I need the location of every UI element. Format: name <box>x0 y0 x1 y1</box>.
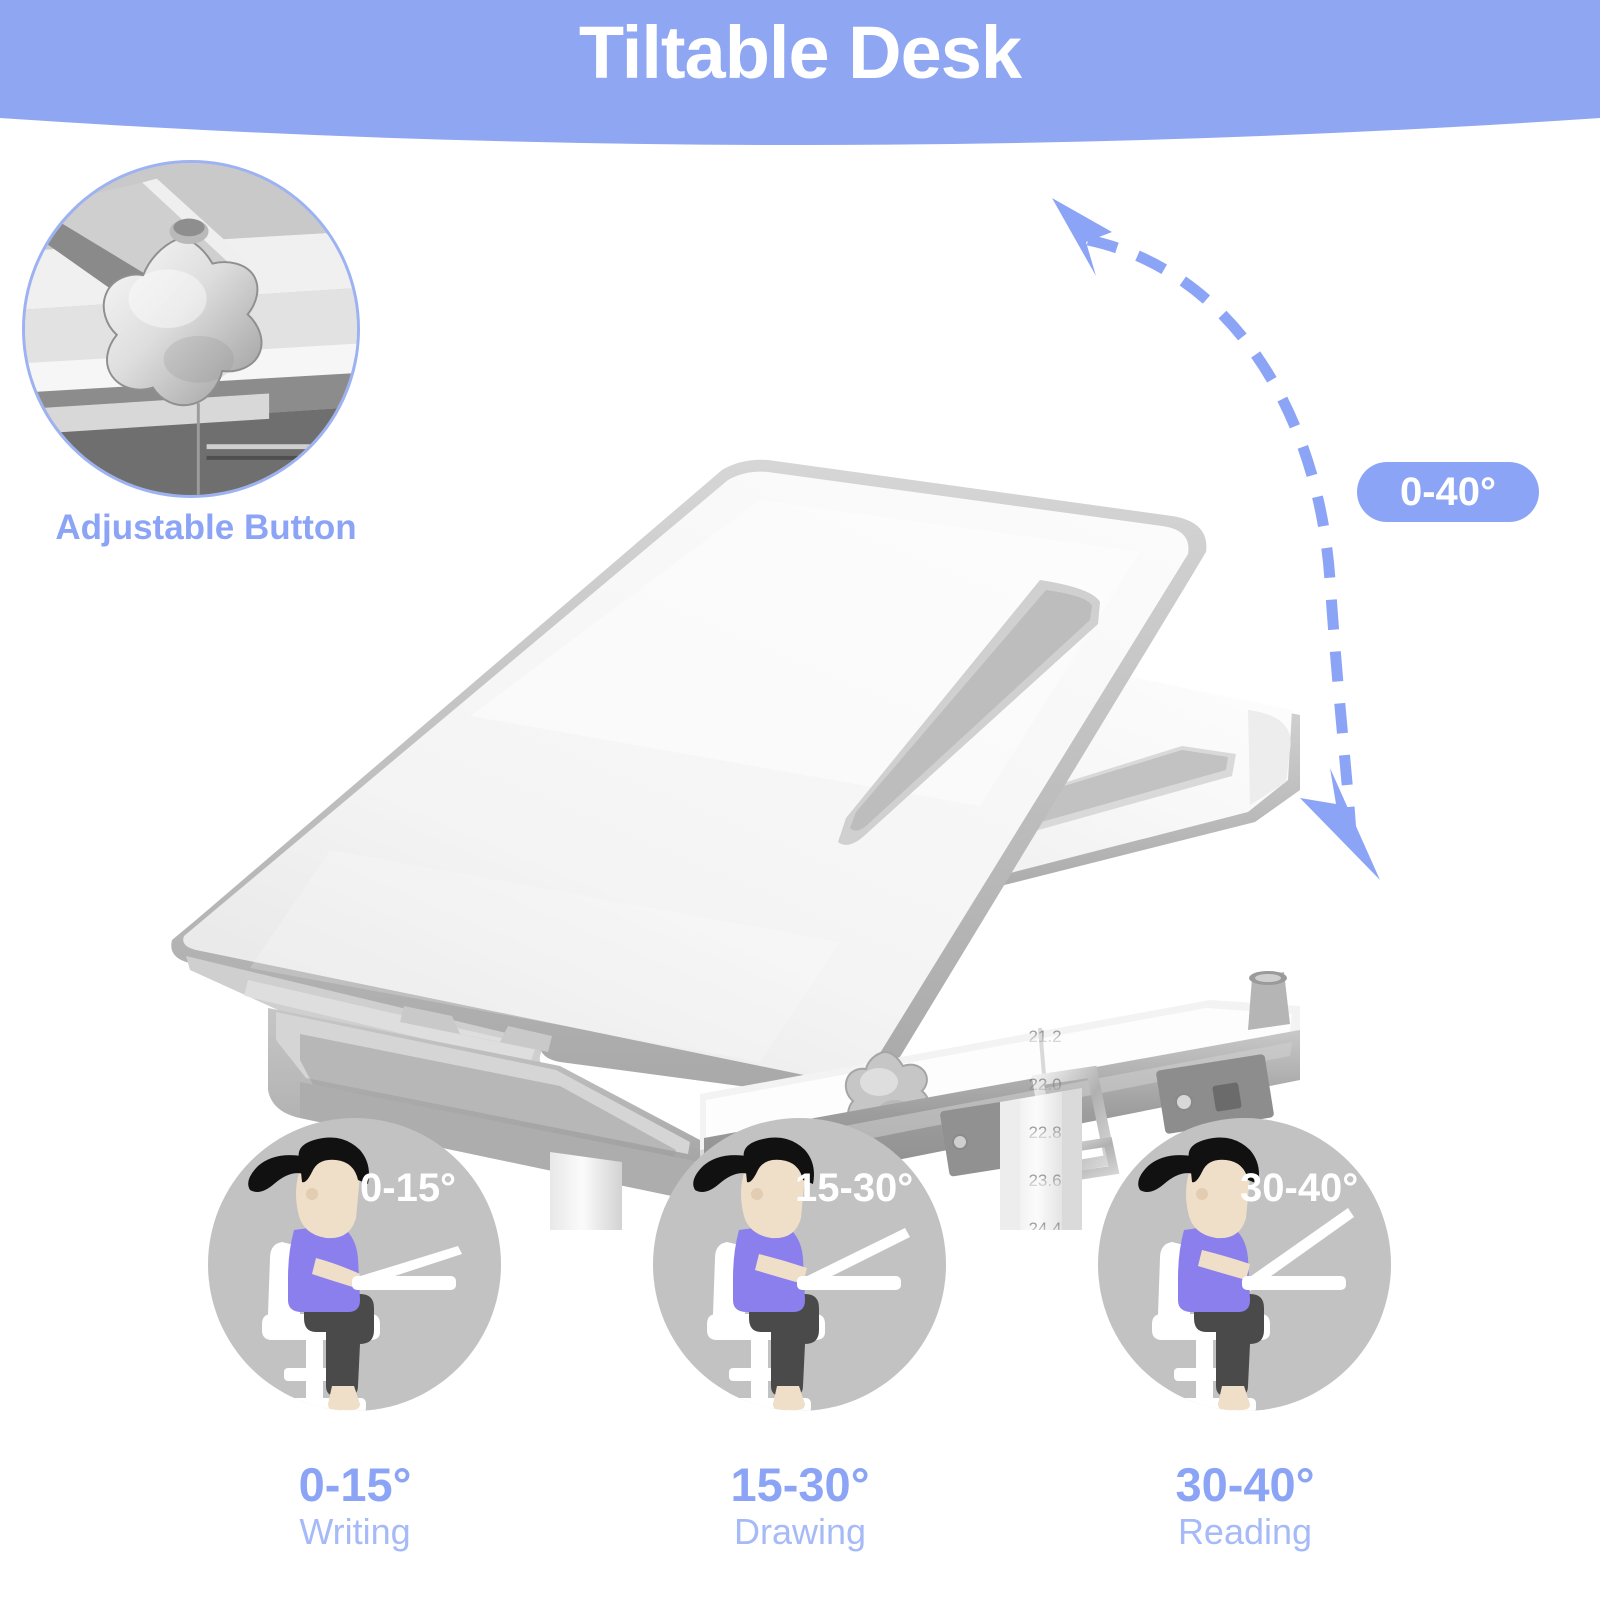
mode-writing-caption: 0-15° Writing <box>155 1460 555 1554</box>
mode-reading-label: Reading <box>1045 1509 1445 1554</box>
mode-writing-circle: 0-15° <box>208 1118 501 1411</box>
svg-text:21.2: 21.2 <box>1028 1027 1061 1046</box>
tilt-range-double-arrow <box>1000 180 1480 920</box>
cable-hole-cap-icon <box>1248 971 1290 1030</box>
mode-reading-circle: 30-40° <box>1098 1118 1391 1411</box>
usage-modes-row: 0-15° 0-15° Writing <box>0 1105 1600 1600</box>
mode-writing-label: Writing <box>155 1509 555 1554</box>
mode-drawing-circle: 15-30° <box>653 1118 946 1411</box>
mode-drawing-angle-inline: 15-30° <box>795 1166 913 1211</box>
child-drawing-icon <box>653 1118 946 1411</box>
mode-reading-angle-inline: 30-40° <box>1240 1166 1358 1211</box>
mode-writing-angle-inline: 0-15° <box>360 1166 456 1211</box>
svg-text:22.0: 22.0 <box>1028 1075 1061 1094</box>
mode-drawing-angle: 15-30° <box>600 1460 1000 1509</box>
mode-reading-caption: 30-40° Reading <box>1045 1460 1445 1554</box>
mode-drawing-label: Drawing <box>600 1509 1000 1554</box>
child-reading-icon <box>1098 1118 1391 1411</box>
mode-reading-angle: 30-40° <box>1045 1460 1445 1509</box>
child-writing-icon <box>208 1118 501 1411</box>
mode-writing-angle: 0-15° <box>155 1460 555 1509</box>
angle-range-badge: 0-40° <box>1357 462 1539 522</box>
page-title: Tiltable Desk <box>0 16 1600 90</box>
mode-drawing-caption: 15-30° Drawing <box>600 1460 1000 1554</box>
page-header: Tiltable Desk <box>0 0 1600 160</box>
